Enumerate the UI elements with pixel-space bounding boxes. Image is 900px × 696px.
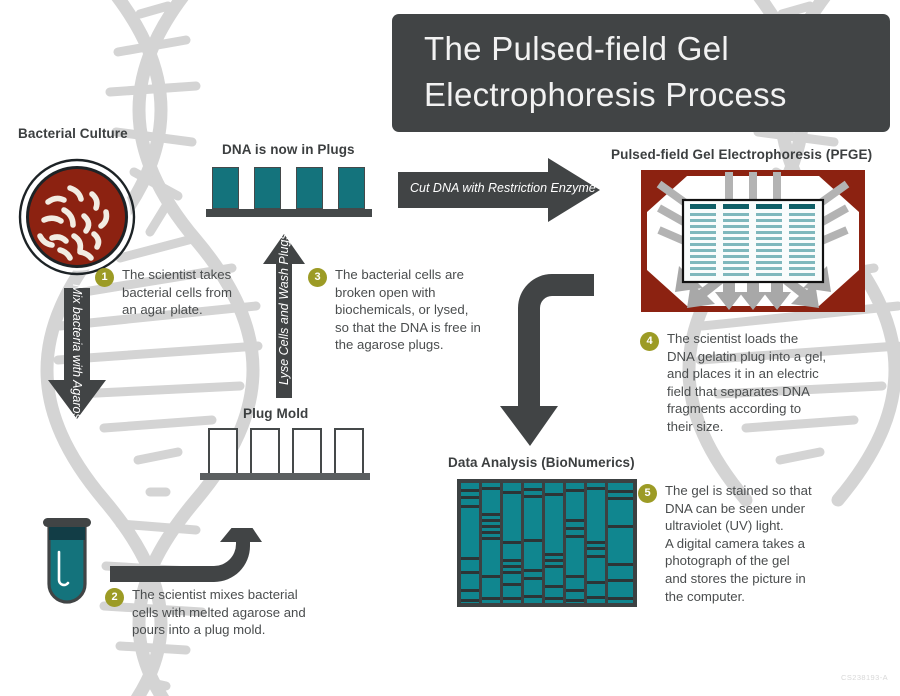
arrow-label-cut-dna: Cut DNA with Restriction Enzyme xyxy=(410,181,596,195)
arrow-pfge-to-data-analysis xyxy=(482,274,594,446)
step-2-badge: 2 xyxy=(105,588,124,607)
step-1-badge: 1 xyxy=(95,268,114,287)
footer-code: CS238193-A xyxy=(841,673,888,682)
step-4-text: The scientist loads the DNA gelatin plug… xyxy=(667,330,840,436)
step-2: 2 The scientist mixes bacterial cells wi… xyxy=(105,586,325,639)
infographic-canvas: The Pulsed-field Gel Electrophoresis Pro… xyxy=(0,0,900,696)
dna-plug xyxy=(338,167,365,209)
bionumerics-gel-figure xyxy=(457,479,637,607)
step-4: 4 The scientist loads the DNA gelatin pl… xyxy=(640,330,840,436)
heading-plug-mold: Plug Mold xyxy=(243,406,308,421)
pfge-chamber-figure xyxy=(641,170,865,312)
step-5-text: The gel is stained so that DNA can be se… xyxy=(665,482,838,605)
step-5: 5 The gel is stained so that DNA can be … xyxy=(638,482,838,605)
step-1-text: The scientist takes bacterial cells from… xyxy=(122,266,245,319)
heading-bacterial-culture: Bacterial Culture xyxy=(18,126,128,141)
title-line-2: Electrophoresis Process xyxy=(424,72,890,118)
heading-data-analysis: Data Analysis (BioNumerics) xyxy=(448,455,635,470)
title-line-1: The Pulsed-field Gel xyxy=(424,26,890,72)
mold-base xyxy=(200,473,370,480)
petri-dish-icon xyxy=(18,158,136,276)
heading-pfge: Pulsed-field Gel Electrophoresis (PFGE) xyxy=(611,147,872,162)
arrow-label-lyse-wash: Lyse Cells and Wash Plugs xyxy=(277,237,291,385)
step-4-badge: 4 xyxy=(640,332,659,351)
dna-plug xyxy=(296,167,323,209)
dna-plug xyxy=(212,167,239,209)
arrow-label-mix-agarose: Mix bacteria with Agarose xyxy=(70,284,84,394)
arrow-lyse-cells-and-wash-plugs: Lyse Cells and Wash Plugs xyxy=(262,234,306,398)
plug-mold-figure xyxy=(200,424,370,480)
test-tube-icon xyxy=(40,518,94,606)
dna-plugs-figure xyxy=(206,163,372,217)
heading-dna-in-plugs: DNA is now in Plugs xyxy=(222,142,355,157)
step-1: 1 The scientist takes bacterial cells fr… xyxy=(95,266,245,319)
title-banner: The Pulsed-field Gel Electrophoresis Pro… xyxy=(392,14,890,132)
step-5-badge: 5 xyxy=(638,484,657,503)
step-2-text: The scientist mixes bacterial cells with… xyxy=(132,586,325,639)
mold-well xyxy=(292,428,322,473)
mold-well xyxy=(334,428,364,473)
plugs-base xyxy=(206,209,372,217)
mold-well xyxy=(208,428,238,473)
step-3-text: The bacterial cells are broken open with… xyxy=(335,266,488,354)
dna-plug xyxy=(254,167,281,209)
step-3-badge: 3 xyxy=(308,268,327,287)
arrow-cut-dna-with-restriction-enzyme: Cut DNA with Restriction Enzyme xyxy=(398,158,600,222)
mold-well xyxy=(250,428,280,473)
step-3: 3 The bacterial cells are broken open wi… xyxy=(308,266,488,354)
